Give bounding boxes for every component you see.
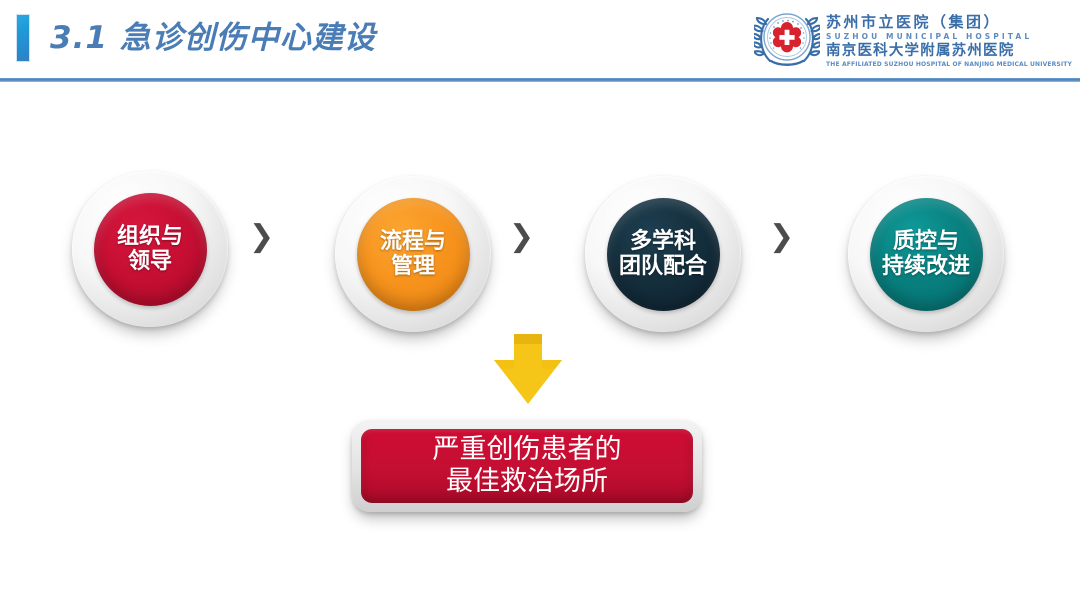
slide-body: 组织与领导 ❯ 流程与管理 ❯ 多学科团队配合 ❯ 质控与持续改进	[0, 82, 1080, 608]
node-1-line-1: 组织与	[117, 224, 183, 249]
logo-en-line-2: THE AFFILIATED SUZHOU HOSPITAL OF NANJIN…	[826, 61, 1072, 69]
logo-cn-line-1: 苏州市立医院（集团）	[826, 14, 1072, 31]
process-node-disc: 质控与持续改进	[870, 198, 983, 311]
node-1-line-2: 领导	[128, 249, 172, 274]
result-callout-inner: 严重创伤患者的最佳救治场所	[361, 429, 693, 503]
process-node-organization[interactable]: 组织与领导	[72, 171, 228, 327]
process-node-workflow[interactable]: 流程与管理	[335, 176, 491, 332]
node-2-line-1: 流程与	[380, 229, 446, 254]
node-2-line-2: 管理	[391, 254, 435, 279]
process-node-disc: 流程与管理	[357, 198, 470, 311]
page-title: 3.1 急诊创伤中心建设	[50, 12, 376, 64]
process-node-disc: 组织与领导	[94, 193, 207, 306]
slide-header: 3.1 急诊创伤中心建设	[0, 0, 1080, 82]
process-node-label: 质控与持续改进	[882, 229, 970, 279]
hospital-logo: 苏州市立医院（集团） SUZHOU MUNICIPAL HOSPITAL 南京医…	[754, 6, 1072, 74]
process-node-disc: 多学科团队配合	[607, 198, 720, 311]
logo-en-line-1: SUZHOU MUNICIPAL HOSPITAL	[826, 32, 1072, 41]
result-line-2: 最佳救治场所	[446, 466, 608, 497]
node-3-line-1: 多学科	[630, 229, 696, 254]
result-line-1: 严重创伤患者的	[433, 434, 622, 465]
node-3-line-2: 团队配合	[619, 254, 707, 279]
process-node-quality-control[interactable]: 质控与持续改进	[848, 176, 1004, 332]
hospital-logo-text: 苏州市立医院（集团） SUZHOU MUNICIPAL HOSPITAL 南京医…	[826, 12, 1072, 69]
chevron-right-icon: ❯	[249, 222, 274, 252]
title-accent-bar	[16, 14, 30, 62]
process-node-multidisciplinary[interactable]: 多学科团队配合	[585, 176, 741, 332]
node-4-line-1: 质控与	[893, 229, 959, 254]
result-callout-box[interactable]: 严重创伤患者的最佳救治场所	[352, 420, 702, 512]
process-node-label: 组织与领导	[117, 224, 183, 274]
chevron-right-icon: ❯	[509, 222, 534, 252]
result-callout-label: 严重创伤患者的最佳救治场所	[433, 434, 622, 498]
chevron-right-icon: ❯	[769, 222, 794, 252]
process-node-label: 流程与管理	[380, 229, 446, 279]
logo-cn-line-2: 南京医科大学附属苏州医院	[826, 43, 1072, 60]
arrow-down-icon	[492, 334, 564, 412]
hospital-emblem-icon	[754, 7, 820, 73]
process-node-label: 多学科团队配合	[619, 229, 707, 279]
node-4-line-2: 持续改进	[882, 254, 970, 279]
